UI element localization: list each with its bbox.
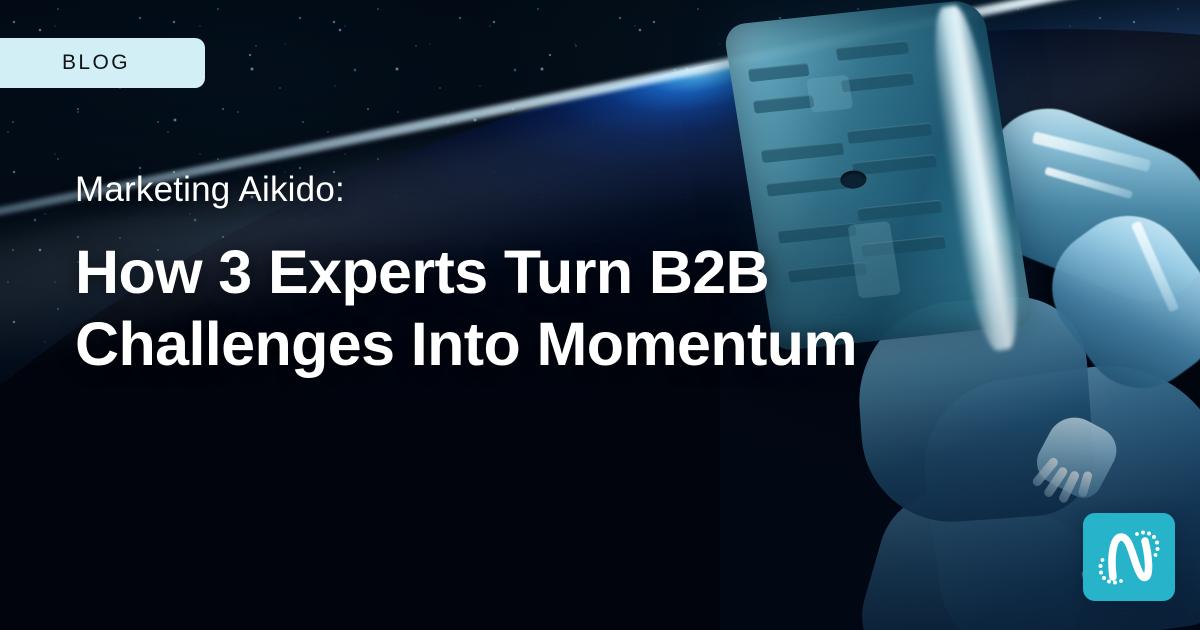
blog-social-card: BLOG Marketing Aikido: How 3 Experts Tur… <box>0 0 1200 630</box>
hero-text-block: Marketing Aikido: How 3 Experts Turn B2B… <box>75 172 1035 381</box>
brand-mark-icon <box>1083 513 1175 601</box>
blog-category-badge[interactable]: BLOG <box>0 38 205 88</box>
blog-badge-label: BLOG <box>62 51 130 75</box>
page-title: How 3 Experts Turn B2B Challenges Into M… <box>75 237 1035 381</box>
eyebrow-text: Marketing Aikido: <box>75 172 1035 207</box>
headline-line-1: How 3 Experts Turn B2B <box>75 237 1035 309</box>
headline-line-2: Challenges Into Momentum <box>75 309 1035 381</box>
brand-logo[interactable] <box>1083 513 1175 601</box>
